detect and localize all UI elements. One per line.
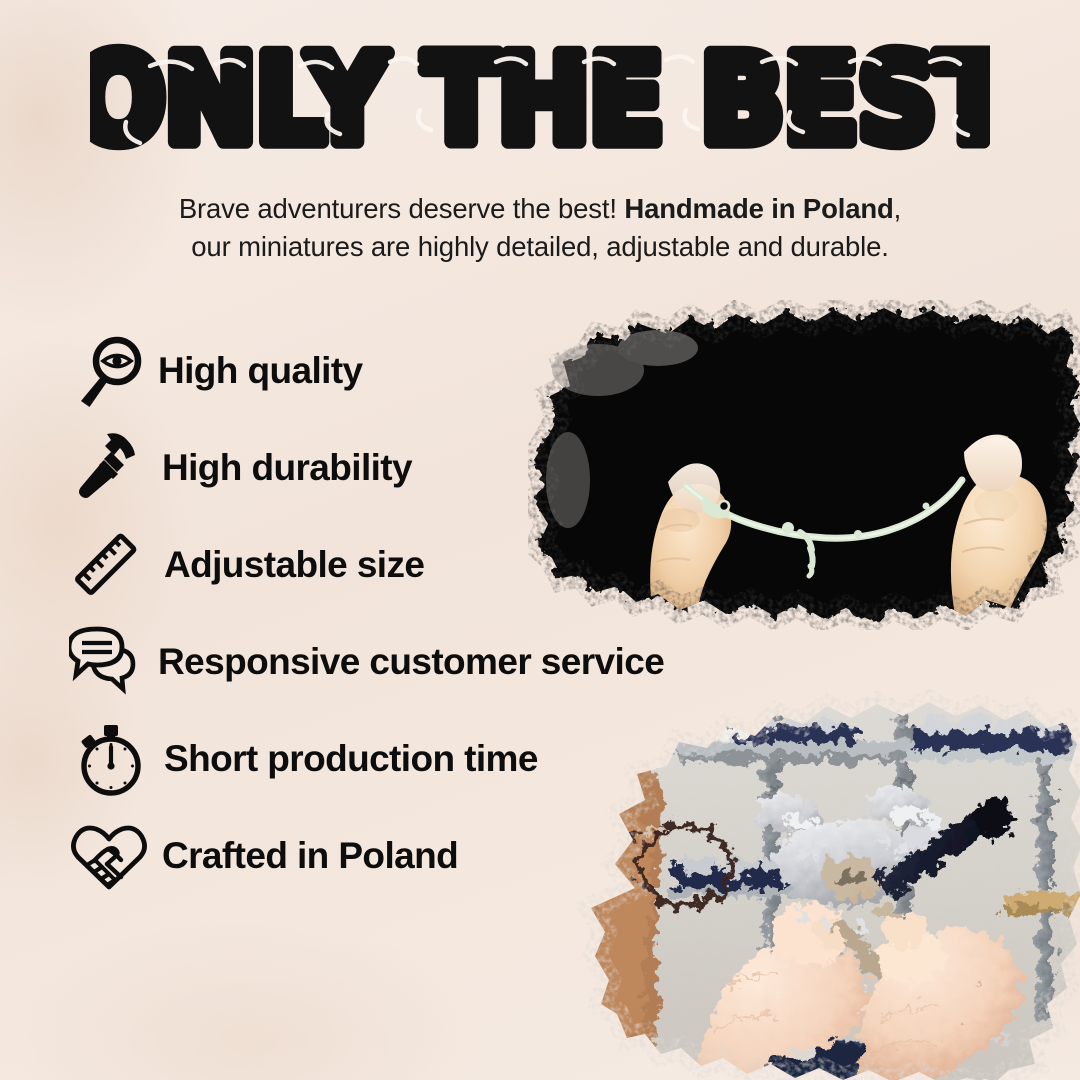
feature-item-adjustable-size: Adjustable size	[62, 516, 792, 613]
promo-graphic-root: ONLY THE BEST Br	[0, 0, 1080, 1080]
feature-label: Responsive customer service	[158, 641, 664, 683]
feature-list: High quality High durability	[62, 322, 792, 904]
feature-item-short-production-time: Short production time	[62, 710, 792, 807]
feature-item-high-quality: High quality	[62, 322, 792, 419]
subtitle-line-1-pre: Brave adventurers deserve the best!	[179, 193, 625, 224]
subtitle: Brave adventurers deserve the best! Hand…	[0, 190, 1080, 266]
subtitle-line-2: our miniatures are highly detailed, adju…	[0, 228, 1080, 266]
feature-label: Short production time	[164, 738, 538, 780]
headline-graphic: ONLY THE BEST	[90, 36, 990, 171]
headline-text: ONLY THE BEST	[90, 36, 990, 171]
page-title: ONLY THE BEST	[0, 36, 1080, 171]
subtitle-line-1: Brave adventurers deserve the best! Hand…	[0, 190, 1080, 228]
feature-item-crafted-in-poland: Crafted in Poland	[62, 807, 792, 904]
stopwatch-icon	[68, 719, 154, 799]
hammer-icon	[68, 428, 154, 508]
magnifier-eye-icon	[68, 333, 154, 413]
feature-label: High durability	[162, 447, 412, 489]
feature-item-responsive-customer-service: Responsive customer service	[62, 613, 792, 710]
speech-bubbles-icon	[65, 622, 151, 702]
subtitle-line-1-bold: Handmade in Poland	[624, 193, 893, 224]
feature-label: Crafted in Poland	[162, 835, 458, 877]
feature-label: Adjustable size	[164, 544, 424, 586]
feature-item-high-durability: High durability	[62, 419, 792, 516]
feature-label: High quality	[158, 350, 363, 392]
heart-handshake-icon	[66, 816, 152, 896]
ruler-icon	[62, 525, 148, 605]
subtitle-line-1-post: ,	[894, 193, 902, 224]
